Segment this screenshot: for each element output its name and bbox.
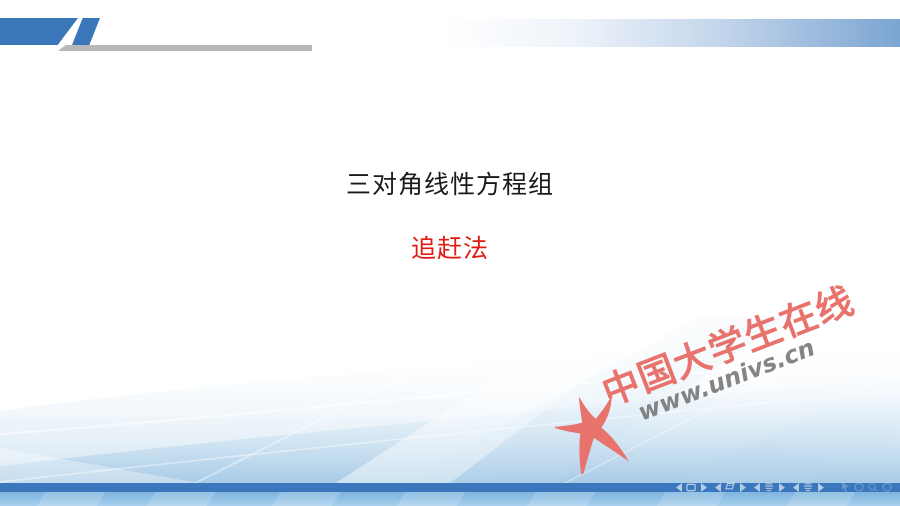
slide-subtitle: 追赶法 bbox=[0, 234, 900, 264]
next-icon[interactable] bbox=[698, 481, 708, 493]
previous-icon[interactable] bbox=[791, 481, 801, 493]
shapes-icon[interactable] bbox=[725, 481, 735, 493]
magnifier-icon[interactable] bbox=[868, 481, 878, 493]
tool-icons-group[interactable] bbox=[840, 481, 892, 493]
previous-icon[interactable] bbox=[674, 481, 684, 493]
player-navigation-controls[interactable] bbox=[674, 479, 892, 495]
nav-group-3[interactable] bbox=[752, 481, 786, 493]
stop-square-icon[interactable] bbox=[686, 481, 696, 493]
title-block: 三对角线性方程组 追赶法 bbox=[0, 168, 900, 264]
header-gradient-bar bbox=[440, 19, 900, 47]
nav-group-1[interactable] bbox=[674, 481, 708, 493]
next-icon[interactable] bbox=[815, 481, 825, 493]
previous-icon[interactable] bbox=[713, 481, 723, 493]
nav-group-2[interactable] bbox=[713, 481, 747, 493]
pointer-icon[interactable] bbox=[840, 481, 850, 493]
decorative-wave-background bbox=[0, 316, 900, 506]
header-gray-bar bbox=[58, 45, 312, 51]
next-icon[interactable] bbox=[776, 481, 786, 493]
slide-title: 三对角线性方程组 bbox=[0, 168, 900, 202]
header-blue-slash bbox=[72, 18, 100, 45]
presentation-slide: 中国大学生在线 www.univs.cn 三对角线性方程组 追赶法 bbox=[0, 0, 900, 506]
eraser-icon[interactable] bbox=[882, 481, 892, 493]
lines-icon[interactable] bbox=[803, 481, 813, 493]
header-blue-parallelogram bbox=[0, 18, 78, 45]
lines-icon[interactable] bbox=[764, 481, 774, 493]
next-icon[interactable] bbox=[737, 481, 747, 493]
previous-icon[interactable] bbox=[752, 481, 762, 493]
nav-group-4[interactable] bbox=[791, 481, 825, 493]
pen-icon[interactable] bbox=[854, 481, 864, 493]
